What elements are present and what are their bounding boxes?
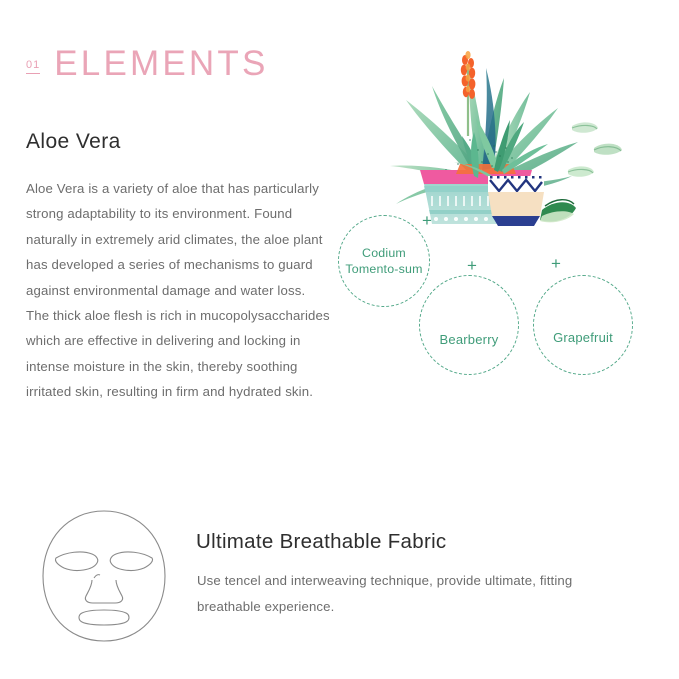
plus-icon: + [467,257,477,274]
fabric-title: Ultimate Breathable Fabric [196,532,447,553]
aloe-vera-subtitle: Aloe Vera [26,131,121,152]
product-detail-page: 01 ELEMENTS Aloe Vera Aloe Vera is a var… [0,0,679,679]
aloe-vera-illustration [382,24,668,229]
ingredient-label: Codium Tomento-sum [339,245,429,277]
sheet-mask-face-icon [38,508,170,644]
section-header: 01 ELEMENTS [26,46,269,81]
navy-zigzag-pot [488,176,544,226]
page-title: ELEMENTS [54,46,268,81]
ingredient-label: Bearberry [436,331,503,348]
aloe-gel-chunks [568,122,622,176]
section-number: 01 [26,60,40,74]
plus-icon: + [422,212,432,229]
aloe-vera-description: Aloe Vera is a variety of aloe that has … [26,176,332,405]
aloe-leaf-slice [540,200,576,223]
fabric-description: Use tencel and interweaving technique, p… [197,568,633,620]
ingredient-grapefruit: Grapefruit [533,275,633,375]
ingredient-bearberry: Bearberry [419,275,519,375]
ingredient-label: Grapefruit [549,329,617,346]
ingredient-codium-tomentosum: Codium Tomento-sum [338,215,430,307]
plus-icon: + [551,255,561,272]
